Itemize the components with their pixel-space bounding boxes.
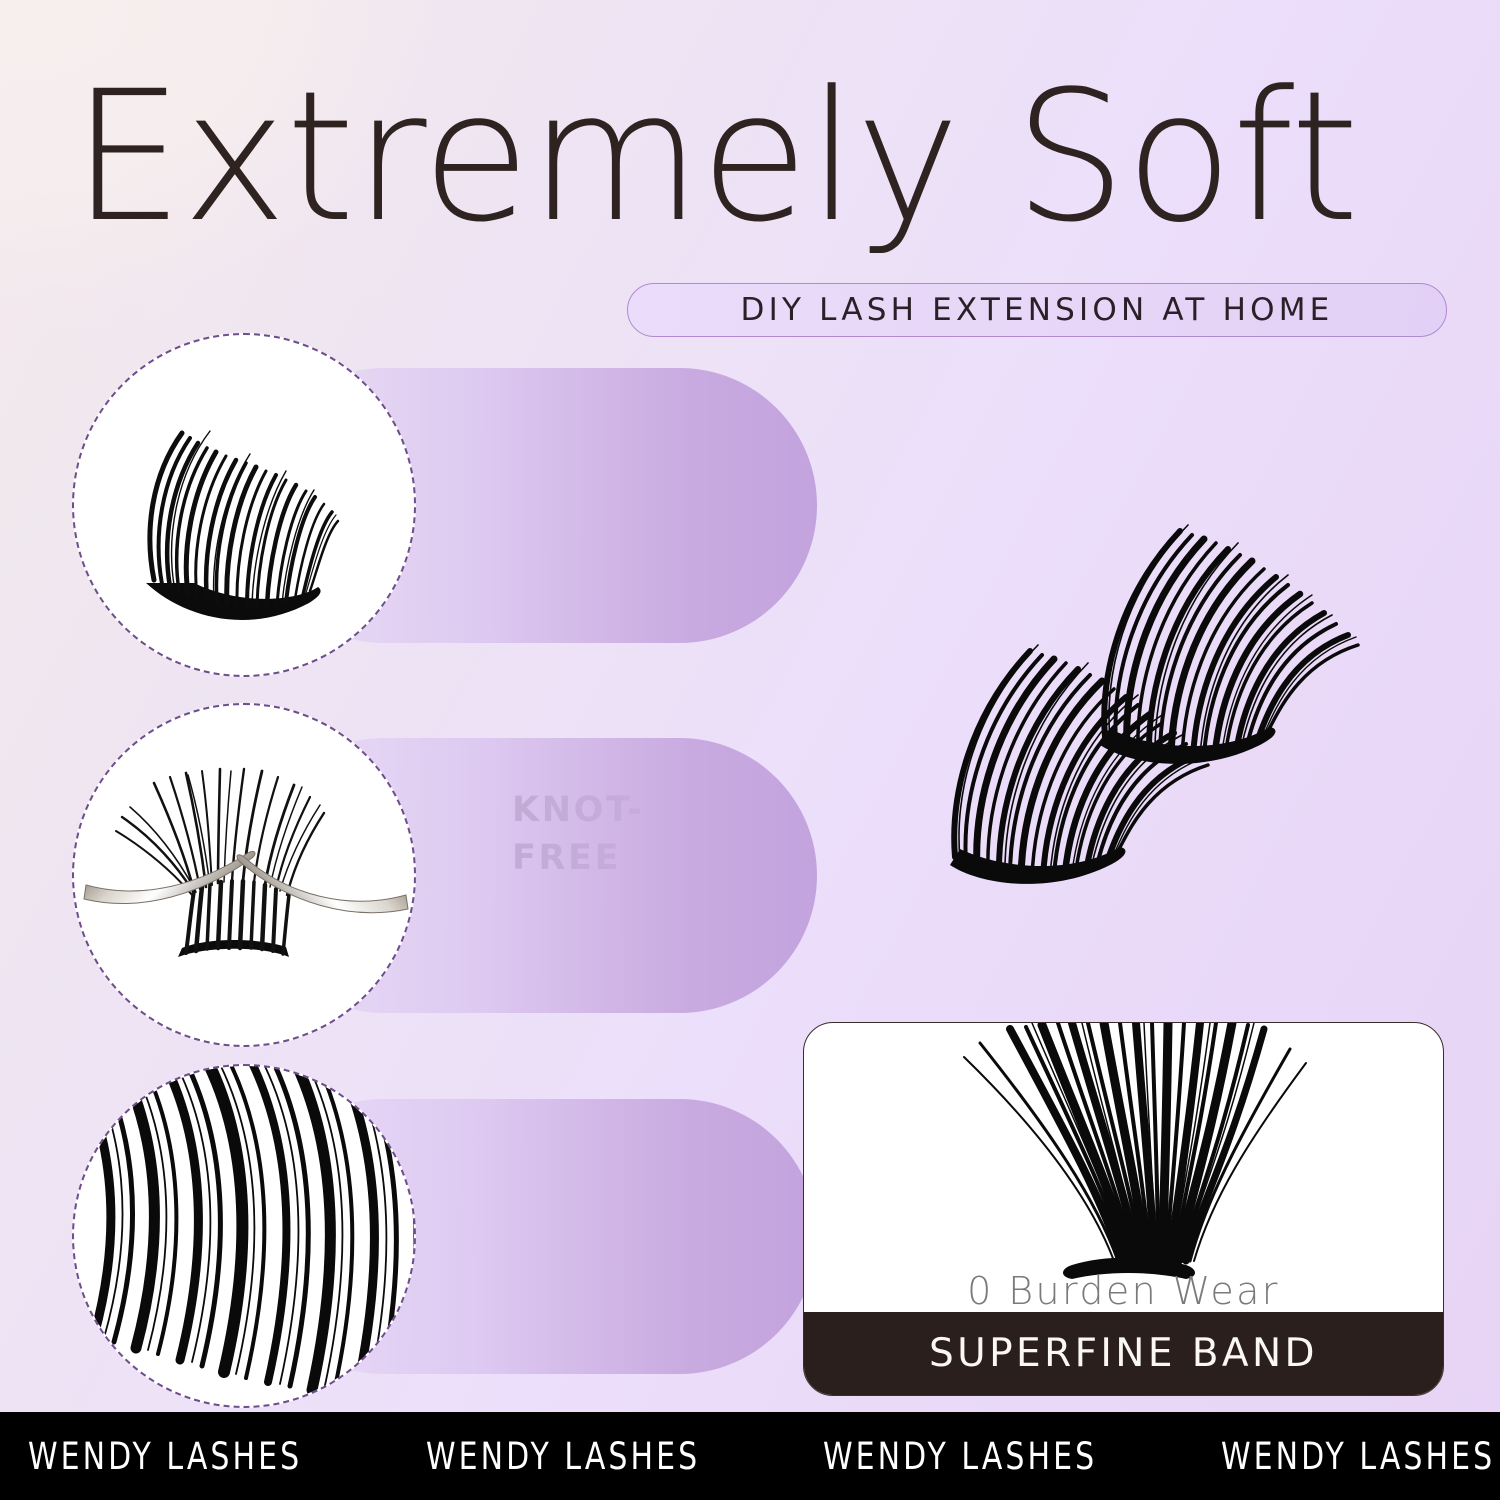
card-band: SUPERFINE BAND xyxy=(804,1312,1443,1395)
watermark-text: WENDY LASHES xyxy=(1221,1435,1495,1478)
feature-image-circle xyxy=(72,333,416,677)
hero-lash-illustration xyxy=(760,345,1480,985)
watermark-text: WENDY LASHES xyxy=(28,1435,302,1478)
superfine-band-lash-fan-icon xyxy=(804,1023,1444,1286)
page-title: Extremely Soft xyxy=(72,68,1444,248)
feature-image-circle xyxy=(72,703,416,1047)
feature-image-circle xyxy=(72,1064,416,1408)
watermark-strip: WENDY LASHES WENDY LASHES WENDY LASHES W… xyxy=(0,1412,1500,1500)
card-band-label: SUPERFINE BAND xyxy=(929,1331,1318,1376)
lash-cluster-knot-free-icon xyxy=(74,335,416,677)
tapered-lash-fibers-macro-icon xyxy=(74,1066,416,1408)
card-art xyxy=(804,1023,1443,1286)
poster-canvas: Extremely Soft DIY LASH EXTENSION AT HOM… xyxy=(0,0,1500,1500)
card-caption: 0 Burden Wear xyxy=(804,1269,1443,1313)
subtitle-text: DIY LASH EXTENSION AT HOME xyxy=(741,292,1334,328)
watermark-text: WENDY LASHES xyxy=(426,1435,700,1478)
watermark-text: WENDY LASHES xyxy=(823,1435,1097,1478)
product-card-superfine-band: 0 Burden Wear SUPERFINE BAND xyxy=(803,1022,1444,1396)
tweezer-lash-cluster-icon xyxy=(74,705,416,1047)
large-lash-cluster-pair-icon xyxy=(760,345,1480,985)
subtitle-pill: DIY LASH EXTENSION AT HOME xyxy=(627,283,1447,337)
